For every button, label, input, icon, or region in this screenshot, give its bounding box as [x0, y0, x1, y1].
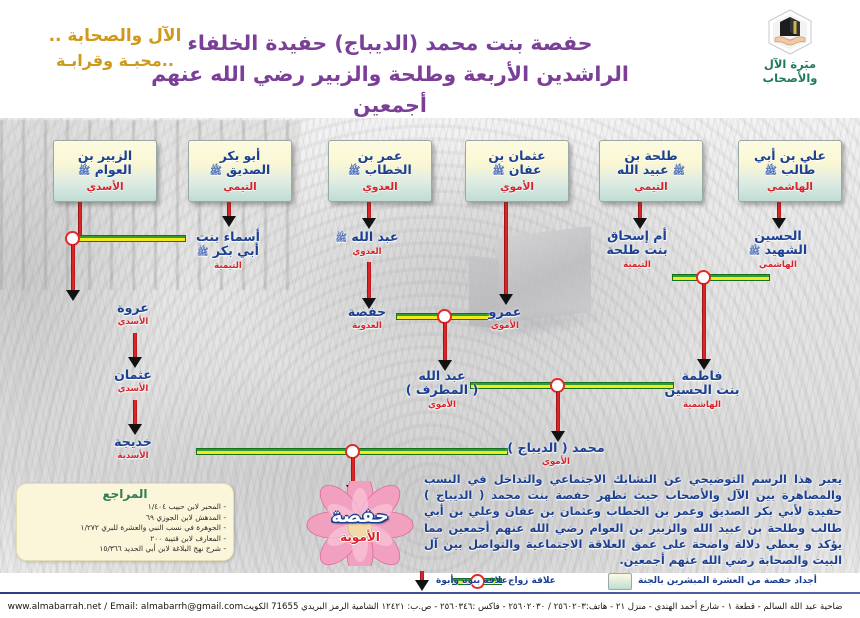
title-line-2: الراشدين الأربعة وطلحة والزبير رضي الله …: [130, 59, 650, 121]
person-box-uthman-name: عثمان بن عفان ﷺ: [488, 149, 545, 177]
person-node-uthman-asadi-name: عثمان: [101, 368, 165, 382]
person-node-asma-tribe: التيمية: [186, 261, 270, 271]
radiallahu-anha-icon: ﷺ: [197, 247, 208, 258]
radiallahu-anhu-icon: ﷺ: [749, 246, 760, 257]
person-node-husayn-tribe: الهاشمي: [740, 260, 816, 270]
person-box-abubakr-name: أبو بكر الصديق ﷺ: [210, 149, 271, 177]
person-node-amr-name: عمرو: [477, 305, 533, 319]
radiallahu-anhu-icon: ﷺ: [348, 166, 360, 177]
person-node-abdullah-mutarraf[interactable]: عبد الله ( المطرف ) الأموي: [396, 369, 488, 410]
poster-canvas: الآل والصحابة .. ..محبـة وقرابـة حفصة بن…: [0, 0, 860, 618]
person-node-muhammad-dibaj-tribe: الأموي: [496, 457, 616, 467]
person-node-hafsa-adawiya-name: حفصة: [335, 305, 399, 319]
person-node-muhammad-dibaj-name: محمد ( الديباج ): [496, 441, 616, 455]
person-node-urwa[interactable]: عروة الأسدي: [101, 301, 165, 327]
references-title: المراجع: [24, 487, 226, 501]
person-box-ali-tribe: الهاشمي: [767, 181, 813, 193]
legend-parentage-label: علاقة بنوة وأبوة: [436, 576, 508, 586]
footer-address: ضاحية عبد الله السالم - قطعة ١ - شارع أح…: [243, 602, 842, 612]
person-node-hafsa-umawiya-name: حفصة: [306, 506, 414, 528]
connector-to-dibaj: [556, 391, 560, 435]
references-card: المراجع - المحبر لابن حبيب ١/٤٠٤ - المده…: [16, 483, 234, 561]
reference-item: - المدهش لابن الجوزي ٦٩: [24, 513, 226, 524]
person-box-zubayr[interactable]: الزبير بن العوام ﷺ الأسدي: [53, 140, 157, 202]
person-node-urwa-tribe: الأسدي: [101, 317, 165, 327]
radiallahu-anhu-icon: ﷺ: [765, 166, 777, 177]
person-node-uthman-asadi[interactable]: عثمان الأسدي: [101, 368, 165, 394]
legend-ancestors-label: أجداد حفصة من العشرة المبشرين بالجنة: [638, 576, 817, 586]
references-list: - المحبر لابن حبيب ١/٤٠٤ - المدهش لابن ا…: [24, 502, 226, 555]
person-node-abdullah-adawi-tribe: العدوي: [327, 247, 407, 257]
person-box-talha[interactable]: طلحة بن ﷺ عبيد الله التيمي: [599, 140, 703, 202]
person-node-asma-name: أسماء بنت أبي بكر ﷺ: [186, 230, 270, 259]
marriage-line-ummishaq-husayn: [672, 274, 770, 281]
person-node-khadija-tribe: الأسدية: [101, 451, 165, 461]
person-box-umar-name: عمر بن الخطاب ﷺ: [348, 149, 411, 177]
legend-item-ancestors: أجداد حفصة من العشرة المبشرين بالجنة: [608, 570, 817, 592]
legend-marriage-label: علاقة زواج: [508, 576, 556, 586]
legend-item-parentage: علاقة بنوة وأبوة: [414, 570, 508, 592]
title-line-1: حفصة بنت محمد (الديباج) حفيدة الخلفاء: [130, 28, 650, 59]
reference-item: - شرح نهج البلاغة لابن أبي الحديد ١٥/٣٦٦: [24, 544, 226, 555]
marriage-line-mutarraf-fatima: [470, 382, 674, 389]
person-node-umm-ishaq-tribe: التيمية: [594, 260, 680, 270]
connector-to-fatima: [702, 283, 706, 363]
parent-arrow-icon: [414, 571, 430, 591]
connector-to-urwa: [71, 244, 75, 294]
connector-to-abdullah-mutarraf: [443, 322, 447, 364]
person-box-talha-name: طلحة بن ﷺ عبيد الله: [617, 149, 685, 177]
person-node-husayn-name: الحسين الشهيد ﷺ: [740, 229, 816, 258]
legend-box-swatch-icon: [608, 573, 632, 590]
person-node-hafsa-adawiya[interactable]: حفصة العدوية: [335, 305, 399, 331]
connector-abdullah-hafsa: [367, 262, 371, 302]
reference-item: - الجوهرة في نسب النبي والعشرة للبري ١/٢…: [24, 523, 226, 534]
person-node-abdullah-adawi-name: عبد الله ﷺ: [327, 230, 407, 245]
person-box-uthman-tribe: الأموي: [500, 181, 534, 193]
arrowhead-abdullah-adawi: [362, 218, 376, 229]
person-node-urwa-name: عروة: [101, 301, 165, 315]
radiallahu-anhu-icon: ﷺ: [492, 166, 504, 177]
person-node-khadija[interactable]: خديجة الأسدية: [101, 435, 165, 461]
logo-label: مبَرة الآل والأصحاب: [735, 57, 845, 85]
person-node-fatima[interactable]: فاطمة بنت الحسين الهاشمية: [658, 369, 746, 410]
person-node-umm-ishaq[interactable]: أم إسحاق بنت طلحة التيمية: [594, 229, 680, 270]
person-box-zubayr-tribe: الأسدي: [86, 181, 123, 193]
kaaba-handshake-icon: [763, 8, 817, 56]
person-node-khadija-name: خديجة: [101, 435, 165, 449]
radiallahu-anhu-icon: ﷺ: [78, 166, 90, 177]
radiallahu-anhu-icon: ﷺ: [210, 166, 222, 177]
legend: أجداد حفصة من العشرة المبشرين بالجنة علا…: [0, 570, 860, 592]
person-box-uthman[interactable]: عثمان بن عفان ﷺ الأموي: [465, 140, 569, 202]
person-node-fatima-tribe: الهاشمية: [658, 400, 746, 410]
person-box-umar-tribe: العدوي: [362, 181, 397, 193]
person-box-ali[interactable]: علي بن أبي طالب ﷺ الهاشمي: [738, 140, 842, 202]
person-box-abubakr[interactable]: أبو بكر الصديق ﷺ التيمي: [188, 140, 292, 202]
person-node-abdullah-mutarraf-name: عبد الله ( المطرف ): [396, 369, 488, 398]
person-node-fatima-name: فاطمة بنت الحسين: [658, 369, 746, 398]
marriage-line-zubayr-asma: [78, 235, 186, 242]
person-node-amr[interactable]: عمرو الأموي: [477, 305, 533, 331]
arrowhead-asma: [222, 216, 236, 227]
footer-divider: [0, 592, 860, 594]
person-node-husayn[interactable]: الحسين الشهيد ﷺ الهاشمي: [740, 229, 816, 270]
person-node-hafsa-adawiya-tribe: العدوية: [335, 321, 399, 331]
page-title: حفصة بنت محمد (الديباج) حفيدة الخلفاء ال…: [130, 28, 650, 120]
person-box-umar[interactable]: عمر بن الخطاب ﷺ العدوي: [328, 140, 432, 202]
organization-logo: مبَرة الآل والأصحاب: [735, 8, 845, 85]
arrowhead-urwa: [66, 290, 80, 301]
connector-uthman-amr: [504, 198, 508, 298]
person-node-amr-tribe: الأموي: [477, 321, 533, 331]
person-node-hafsa-umawiya-tribe: الأموية: [306, 530, 414, 544]
reference-item: - المحبر لابن حبيب ١/٤٠٤: [24, 502, 226, 513]
connector-zubayr-down: [78, 198, 82, 238]
person-node-asma[interactable]: أسماء بنت أبي بكر ﷺ التيمية: [186, 230, 270, 271]
person-node-abdullah-adawi[interactable]: عبد الله ﷺ العدوي: [327, 230, 407, 257]
description-paragraph: يعبر هذا الرسم التوضيحي عن التشابك الاجت…: [424, 471, 842, 568]
person-box-ali-name: علي بن أبي طالب ﷺ: [754, 149, 826, 177]
footer: ضاحية عبد الله السالم - قطعة ١ - شارع أح…: [0, 595, 860, 618]
person-node-uthman-asadi-tribe: الأسدي: [101, 384, 165, 394]
footer-web-email[interactable]: www.almabarrah.net / Email: almabarrh@gm…: [8, 602, 244, 612]
person-node-muhammad-dibaj[interactable]: محمد ( الديباج ) الأموي: [496, 441, 616, 467]
radiallahu-anhu-icon: ﷺ: [673, 166, 685, 177]
reference-item: - المعارف لابن قتيبة ٢٠٠: [24, 534, 226, 545]
radiallahu-anhu-icon: ﷺ: [335, 233, 346, 244]
person-node-umm-ishaq-name: أم إسحاق بنت طلحة: [594, 229, 680, 258]
person-box-zubayr-name: الزبير بن العوام ﷺ: [78, 149, 132, 177]
person-box-abubakr-tribe: التيمي: [223, 181, 256, 193]
person-box-talha-tribe: التيمي: [634, 181, 667, 193]
person-node-abdullah-mutarraf-tribe: الأموي: [396, 400, 488, 410]
person-node-hafsa-umawiya[interactable]: حفصة الأموية: [306, 506, 414, 544]
